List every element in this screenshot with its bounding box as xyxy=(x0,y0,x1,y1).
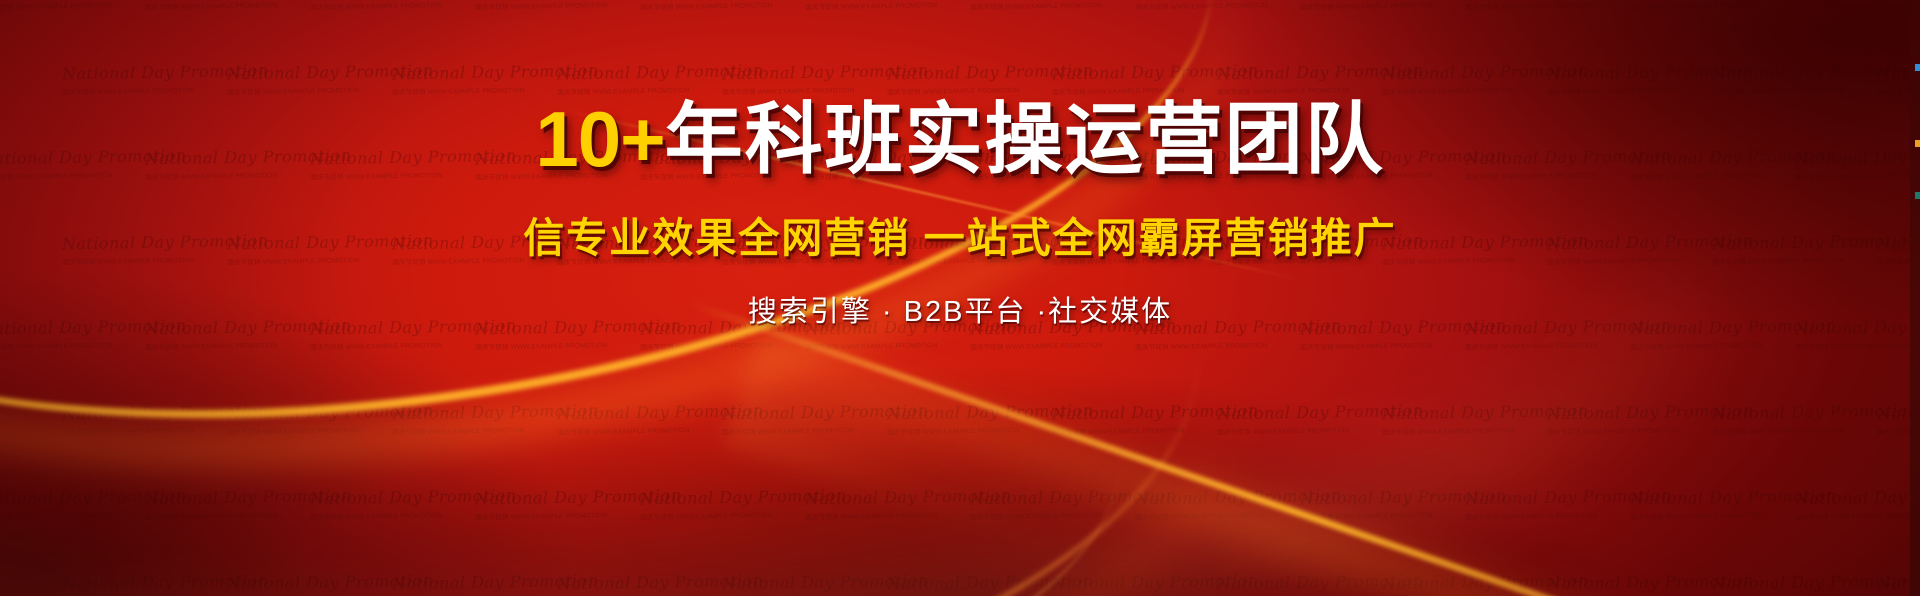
headline-number: 10+ xyxy=(535,95,664,183)
headline: 10+年科班实操运营团队 xyxy=(535,100,1384,178)
banner-text-block: 10+年科班实操运营团队 信专业效果全网营销 一站式全网霸屏营销推广 搜索引擎 … xyxy=(0,0,1920,596)
tagline: 搜索引擎 · B2B平台 ·社交媒体 xyxy=(748,288,1172,330)
headline-text: 年科班实操运营团队 xyxy=(665,95,1385,183)
promotional-banner: National Day Promotion国庆节促销 WWW.EXAMPLE … xyxy=(0,0,1920,596)
subheadline: 信专业效果全网营销 一站式全网霸屏营销推广 xyxy=(523,204,1396,264)
